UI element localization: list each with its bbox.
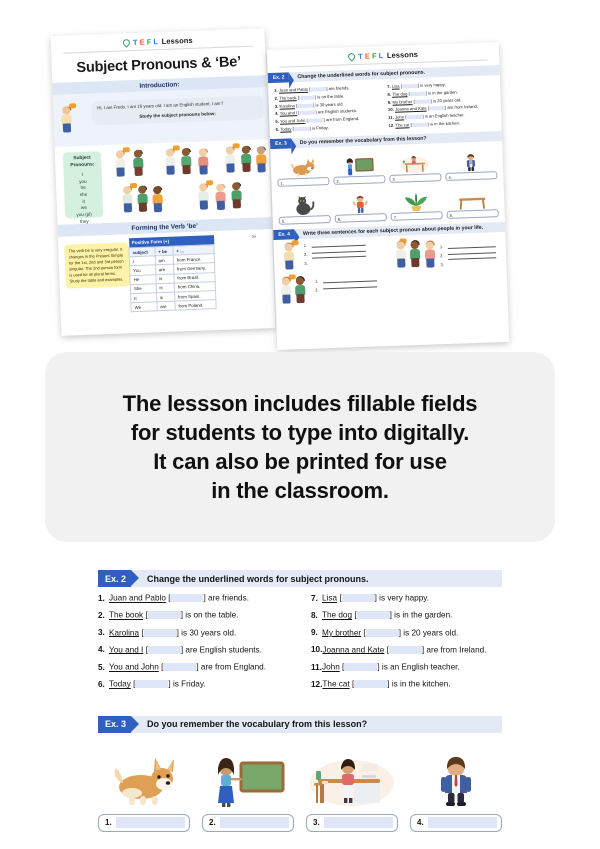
item-number: 1.: [274, 88, 278, 93]
line-number: 2.: [315, 287, 319, 292]
boy-running-icon: [334, 187, 387, 215]
head-shape: [166, 149, 174, 157]
ex4-answer-lines-3: 1. 2.: [315, 276, 377, 289]
item-tail: ] is in the garden.: [390, 611, 453, 620]
fillable-field[interactable]: [389, 646, 422, 654]
vocab-answer-row[interactable]: 3.: [306, 814, 398, 832]
item-subject: The book: [279, 95, 297, 101]
ex2-left-column: 1.Juan and Pablo [] are friends. 2.The b…: [98, 594, 289, 698]
fillable-field[interactable]: [135, 680, 168, 688]
legs-shape: [242, 163, 250, 172]
character-ex4-3b: [293, 276, 308, 302]
vocab-cell: 1.: [276, 151, 329, 187]
head-shape: [226, 146, 234, 154]
pronoun-item-she: she: [80, 192, 88, 197]
line-number: 1.: [440, 244, 444, 249]
item-number: 12.: [311, 681, 322, 689]
item-number: 7.: [387, 84, 391, 89]
list-item: 6.Today [] is Friday.: [98, 680, 289, 689]
fillable-field[interactable]: [163, 663, 196, 671]
ex3-badge: Ex. 3: [270, 138, 291, 149]
callout-line-1: The lessson includes fillable fields: [123, 391, 478, 416]
item-number: 2.: [274, 96, 278, 101]
item-subject: Today: [109, 680, 131, 689]
fillable-field[interactable]: [299, 111, 315, 116]
item-tail: ] is in the kitchen.: [387, 680, 450, 689]
character-group-4a: [120, 186, 135, 212]
legs-shape: [397, 258, 405, 267]
answer-number: 2.: [203, 818, 220, 827]
item-tail: ] is in the kitchen.: [428, 120, 461, 126]
schoolboy-icon: [444, 145, 497, 173]
list-item: 12.The cat [] is in the kitchen.: [311, 680, 502, 689]
plant-icon: [390, 185, 443, 213]
item-tail: ] is very happy.: [375, 594, 429, 603]
character-group-3a: [223, 146, 238, 172]
head-shape: [426, 241, 434, 249]
fillable-field[interactable]: [402, 84, 418, 89]
item-subject: Today: [280, 126, 291, 131]
answer-line[interactable]: [323, 286, 377, 289]
vocab-answer-row[interactable]: 2.: [202, 814, 294, 832]
character-ex4-2a: [394, 241, 405, 267]
intro-speech-bubble: Hi, I am Fredo. I am 16 years old. I am …: [91, 95, 264, 125]
list-item: 8.The dog [] is in the garden.: [311, 611, 502, 620]
item-number: 10.: [388, 107, 394, 112]
location-pin-icon: [347, 52, 357, 62]
preview-ex3-row-1: 1. 2. 3. 4.: [270, 141, 503, 187]
fillable-field[interactable]: [412, 122, 428, 127]
fillable-field[interactable]: [357, 611, 390, 619]
fillable-field[interactable]: [366, 629, 399, 637]
vocab-answer-field[interactable]: 8.: [447, 209, 499, 219]
fillable-field[interactable]: [344, 663, 377, 671]
vocab-item: 4.: [410, 749, 502, 832]
head-shape: [153, 186, 161, 194]
worksheet-page-2-preview[interactable]: T E F L Lessons Ex. 2 Change the underli…: [267, 42, 509, 350]
vocab-answer-field[interactable]: 5.: [279, 215, 331, 225]
preview-ex3-row-2: 5. 6. 7. 8.: [272, 179, 505, 225]
item-subject: The dog: [392, 91, 408, 97]
head-shape: [216, 184, 224, 192]
item-number: 8.: [311, 612, 322, 620]
vocab-cell: 4.: [444, 145, 497, 181]
legs-shape: [233, 199, 241, 208]
item-subject: Joanna and Kate: [322, 645, 384, 654]
callout-text: The lessson includes fillable fields for…: [123, 389, 478, 506]
logo-letter-e: E: [139, 38, 144, 47]
item-tail: ] is an English teacher.: [422, 112, 464, 118]
item-tail: ] is very happy.: [418, 82, 446, 88]
logo-letter-f: F: [147, 37, 152, 46]
item-tail: ] are friends.: [326, 85, 349, 91]
ex4-answer-lines-2: 1. 2. 3.: [440, 242, 497, 260]
item-subject: The cat: [322, 680, 349, 689]
item-tail: ] is an English teacher.: [377, 663, 459, 672]
fillable-field[interactable]: [144, 629, 177, 637]
legs-shape: [154, 203, 162, 212]
fillable-field[interactable]: [429, 106, 445, 111]
fillable-field[interactable]: [148, 646, 181, 654]
item-tail: ] are from England.: [324, 116, 360, 122]
head-shape: [182, 148, 190, 156]
worksheet-preview-stage: T E F L Lessons Subject Pronouns & ‘Be’ …: [0, 0, 600, 360]
ex2-header-bar: Ex. 2 Change the underlined words for su…: [98, 570, 502, 587]
item-subject: Karolina: [109, 628, 139, 637]
ex3-badge: Ex. 3: [98, 716, 131, 733]
item-number: 6.: [98, 681, 109, 689]
dog-corgi-icon: [98, 749, 190, 807]
fillable-field[interactable]: [148, 611, 181, 619]
introduction-zone: Hi, I am Fredo. I am 16 years old. I am …: [53, 87, 269, 147]
callout-line-2: for students to type into digitally.: [131, 420, 469, 445]
vocab-answer-field[interactable]: [220, 817, 289, 828]
item-tail: ] are English students.: [315, 108, 357, 114]
item-number: 2.: [98, 612, 109, 620]
info-callout-card: The lessson includes fillable fields for…: [45, 352, 555, 542]
item-subject: My brother: [322, 628, 361, 637]
fillable-field[interactable]: [299, 95, 315, 100]
item-number: 5.: [275, 119, 279, 124]
item-subject: Lisa: [322, 594, 337, 603]
character-group-3b: [239, 146, 254, 172]
cell-be: are: [157, 301, 176, 311]
item-tail: ] are from England.: [196, 663, 266, 672]
dog-corgi-icon: [276, 151, 329, 179]
character-group-2b: [179, 148, 194, 174]
item-tail: ] is on the table.: [315, 93, 345, 99]
item-number: 7.: [311, 595, 322, 603]
character-group-4c: [150, 186, 165, 212]
vocab-answer-field[interactable]: [428, 817, 497, 828]
vocab-answer-field[interactable]: 6.: [335, 213, 387, 223]
preview-ex2-left-column: 1. Juan and Pablo [] are friends. 2. The…: [274, 83, 383, 133]
logo-letter-e: E: [365, 52, 370, 61]
vocab-cell: 7.: [390, 185, 443, 221]
legs-shape: [296, 294, 304, 303]
preview-ex2-body: 1. Juan and Pablo [] are friends. 2. The…: [268, 75, 502, 134]
item-subject: You and I: [280, 110, 298, 116]
item-tail: ] is on the table.: [181, 611, 239, 620]
legs-shape: [426, 258, 434, 267]
list-item: 3.Karolina [] is 30 years old.: [98, 629, 289, 638]
fillable-field[interactable]: [308, 118, 324, 123]
pronoun-item-they: they: [80, 218, 89, 223]
ex2-instruction: Change the underlined words for subject …: [147, 570, 369, 587]
ex2-badge: Ex. 2: [268, 72, 289, 83]
intro-instruction: Study the subject pronouns below:: [97, 108, 257, 121]
pronoun-item-we: we: [81, 205, 87, 210]
answer-number: 1.: [99, 818, 116, 827]
item-number: 6.: [276, 127, 280, 132]
preview-ex2-right-column: 7. Lisa [] is very happy. 8. The dog [] …: [387, 79, 496, 129]
item-tail: ] are English students.: [181, 645, 262, 654]
pronoun-item-he: he: [81, 185, 86, 190]
legs-shape: [116, 167, 124, 176]
line-number: 1.: [315, 278, 319, 283]
logo-letter-l: L: [153, 37, 158, 46]
item-subject: Lisa: [392, 84, 400, 89]
vocab-answer-field[interactable]: [324, 817, 393, 828]
item-subject: The dog: [322, 611, 352, 620]
legs-shape: [411, 258, 419, 267]
legs-shape: [226, 163, 234, 172]
list-item: 10.Joanna and Kate [] are from Ireland.: [311, 646, 502, 655]
legs-shape: [285, 260, 293, 269]
legs-shape: [182, 165, 190, 174]
answer-line[interactable]: [312, 245, 366, 248]
fillable-field[interactable]: [310, 87, 326, 92]
fillable-field[interactable]: [354, 680, 387, 688]
item-tail: ] is 30 years old.: [177, 628, 237, 637]
character-ex4-2b: [408, 240, 423, 266]
line-number: 2.: [440, 253, 444, 258]
logo-word: Lessons: [387, 50, 418, 60]
answer-line[interactable]: [448, 257, 496, 260]
preview-ex4-body: 1. 2. 3.: [273, 232, 507, 298]
item-subject: Karolina: [279, 103, 295, 109]
vocab-answer-row[interactable]: 1.: [98, 814, 190, 832]
list-item: 11.John [] is an English teacher.: [311, 663, 502, 672]
item-number: 9.: [311, 629, 322, 637]
item-subject: You and John: [109, 663, 159, 672]
head-shape: [62, 106, 70, 114]
item-tail: ] are from Ireland.: [445, 104, 478, 110]
head-shape: [199, 148, 207, 156]
answer-line[interactable]: [323, 281, 377, 284]
item-number: 12.: [388, 123, 394, 128]
pronoun-item-i: I: [82, 172, 83, 177]
head-shape: [116, 150, 124, 158]
character-group-5a: [196, 183, 211, 209]
legs-shape: [124, 203, 132, 212]
vocab-item: 1.: [98, 749, 190, 832]
fillable-field[interactable]: [297, 103, 313, 108]
logo-letter-t: T: [358, 52, 363, 61]
answer-line[interactable]: [312, 250, 366, 253]
list-item: 9.My brother [] is 20 years old.: [311, 629, 502, 638]
list-item: 1.Juan and Pablo [] are friends.: [98, 594, 289, 603]
verb-note-callout: The verb be is very irregular. It change…: [64, 242, 130, 288]
positive-form-table: Positive Form (+) subject + be + ... Iam…: [128, 235, 217, 312]
legs-shape: [217, 201, 225, 210]
list-item: 2.The book [] is on the table.: [98, 611, 289, 620]
callout-line-4: in the classroom.: [211, 478, 389, 503]
list-item: 7.Lisa [] is very happy.: [311, 594, 502, 603]
character-ex4-1: [282, 243, 297, 269]
item-subject: My brother: [392, 99, 412, 105]
line-number: 2.: [304, 251, 308, 256]
vocab-cell: 8.: [446, 183, 499, 219]
item-subject: You and John: [280, 118, 306, 124]
head-shape: [123, 186, 131, 194]
vocab-answer-field[interactable]: 7.: [391, 211, 443, 221]
item-subject: John: [322, 663, 340, 672]
legs-shape: [134, 167, 142, 176]
head-shape: [397, 241, 405, 249]
location-pin-icon: [122, 38, 132, 48]
answer-line[interactable]: [312, 256, 366, 259]
head-shape: [242, 146, 250, 154]
head-shape: [285, 243, 293, 251]
answer-line[interactable]: [448, 246, 496, 249]
item-number: 3.: [98, 629, 109, 637]
character-group-4b: [135, 186, 150, 212]
worksheet-title: Subject Pronouns & ‘Be’: [51, 53, 265, 77]
item-subject: The cat: [395, 122, 409, 127]
legs-shape: [200, 200, 208, 209]
head-shape: [282, 277, 290, 285]
kitchen-scene-icon: [306, 749, 398, 807]
cell-subject: We: [131, 302, 157, 312]
pronoun-item-you: you: [79, 178, 87, 183]
character-group-5c: [229, 182, 244, 208]
item-number: 9.: [388, 99, 392, 104]
character-ex4-3a: [279, 277, 294, 303]
table-icon: [446, 183, 499, 211]
answer-number: 4.: [411, 818, 428, 827]
item-tail: ] is 20 years old.: [399, 628, 459, 637]
logo-letter-l: L: [379, 51, 384, 60]
list-item: 4.You and I [] are English students.: [98, 646, 289, 655]
item-number: 11.: [388, 115, 394, 120]
line-number: 1.: [304, 242, 308, 247]
item-subject: Joanna and Kate: [395, 106, 427, 112]
item-tail: ] is 30 years old.: [313, 101, 344, 107]
vocab-cell: 5.: [278, 189, 331, 225]
logo-letter-f: F: [372, 51, 377, 60]
item-tail: ] is 20 years old.: [431, 97, 462, 103]
item-number: 4.: [98, 646, 109, 654]
item-number: 5.: [98, 664, 109, 672]
item-tail: ] are friends.: [203, 594, 249, 603]
character-group-1b: [131, 150, 146, 176]
vocab-cell: 6.: [334, 187, 387, 223]
vocab-answer-field[interactable]: [116, 817, 185, 828]
pronoun-illustration-zone: Subject Pronouns: I you he she it we you…: [55, 139, 272, 225]
item-subject: The book: [109, 611, 143, 620]
answer-line[interactable]: [448, 252, 496, 255]
head-shape: [296, 277, 304, 285]
item-number: 8.: [387, 92, 391, 97]
logo-word: Lessons: [161, 36, 192, 46]
pronoun-item-it: it: [82, 198, 84, 203]
item-subject: John: [395, 114, 404, 119]
vocab-cell: 2.: [332, 149, 385, 185]
legs-shape: [166, 166, 174, 175]
vocab-item: 3.: [306, 749, 398, 832]
legs-shape: [199, 165, 207, 174]
item-number: 1.: [98, 595, 109, 603]
legs-shape: [63, 123, 71, 132]
teacher-blackboard-icon: [332, 149, 385, 177]
legs-shape: [257, 163, 265, 172]
schoolboy-icon: [410, 749, 502, 807]
worksheet-page-1-preview[interactable]: T E F L Lessons Subject Pronouns & ‘Be’ …: [51, 28, 276, 336]
item-subject: Juan and Pablo: [109, 594, 166, 603]
item-tail: ] is in the garden.: [426, 89, 458, 95]
subject-pronouns-title: Subject Pronouns:: [63, 155, 101, 170]
intro-text: Hi, I am Fredo. I am 16 years old. I am …: [97, 101, 223, 111]
ex2-right-column: 7.Lisa [] is very happy. 8.The dog [] is…: [311, 594, 502, 698]
teacher-blackboard-icon: [202, 749, 294, 807]
line-number: 3.: [440, 262, 444, 267]
item-tail: ] are from Ireland.: [422, 645, 487, 654]
table-side-label: Si: [252, 233, 270, 240]
character-group-1a: [113, 150, 128, 176]
callout-line-3: It can also be printed for use: [153, 449, 447, 474]
item-number: 4.: [275, 111, 279, 116]
logo-letter-t: T: [133, 38, 138, 47]
verb-be-zone: The verb be is very irregular. It change…: [58, 229, 275, 323]
item-subject: You and I: [109, 645, 143, 654]
item-tail: ] is Friday.: [310, 125, 329, 131]
item-number: 3.: [275, 103, 279, 108]
vocab-item: 2.: [202, 749, 294, 832]
ex2-badge: Ex. 2: [98, 570, 131, 587]
fillable-field[interactable]: [415, 99, 431, 104]
answer-number: 3.: [307, 818, 324, 827]
head-shape: [411, 241, 419, 249]
ex3-header-bar: Ex. 3 Do you remember the vocabulary fro…: [98, 716, 502, 733]
pronoun-item-you-pl: you (pl): [76, 211, 92, 217]
item-number: 11.: [311, 664, 322, 672]
fillable-field[interactable]: [406, 115, 422, 120]
item-number: 10.: [311, 646, 322, 654]
subject-pronouns-box: Subject Pronouns: I you he she it we you…: [63, 151, 103, 218]
ex3-vocabulary-grid: 1. 2.: [98, 749, 502, 832]
head-shape: [232, 182, 240, 190]
vocab-cell: 3.: [388, 147, 441, 183]
legs-shape: [282, 294, 290, 303]
fillable-field[interactable]: [342, 594, 375, 602]
table-row: Wearefrom Poland.: [131, 300, 216, 312]
fillable-field[interactable]: [170, 594, 203, 602]
list-item: 5.You and John [] are from England.: [98, 663, 289, 672]
fillable-field[interactable]: [410, 91, 426, 96]
cat-icon: [278, 189, 331, 217]
character-group-2a: [163, 148, 178, 174]
legs-shape: [139, 203, 147, 212]
character-fredo: [59, 106, 74, 132]
worksheet-detail-section: Ex. 2 Change the underlined words for su…: [0, 570, 600, 849]
head-shape: [138, 186, 146, 194]
cell-complement: from Poland.: [175, 300, 216, 311]
vocab-answer-row[interactable]: 4.: [410, 814, 502, 832]
head-shape: [257, 146, 265, 154]
character-group-3c: [254, 146, 269, 172]
character-group-2c: [196, 148, 211, 174]
fillable-field[interactable]: [294, 127, 310, 132]
ex3-instruction: Do you remember the vocabulary from this…: [147, 716, 367, 733]
character-group-5b: [213, 184, 228, 210]
item-tail: ] is Friday.: [168, 680, 205, 689]
character-ex4-2c: [423, 241, 438, 267]
head-shape: [134, 150, 142, 158]
ex2-exercise-body: 1.Juan and Pablo [] are friends. 2.The b…: [98, 594, 502, 698]
head-shape: [199, 183, 207, 191]
line-number: 3.: [304, 260, 308, 265]
kitchen-scene-icon: [388, 147, 441, 175]
ex4-answer-lines-1: 1. 2. 3.: [304, 240, 367, 259]
